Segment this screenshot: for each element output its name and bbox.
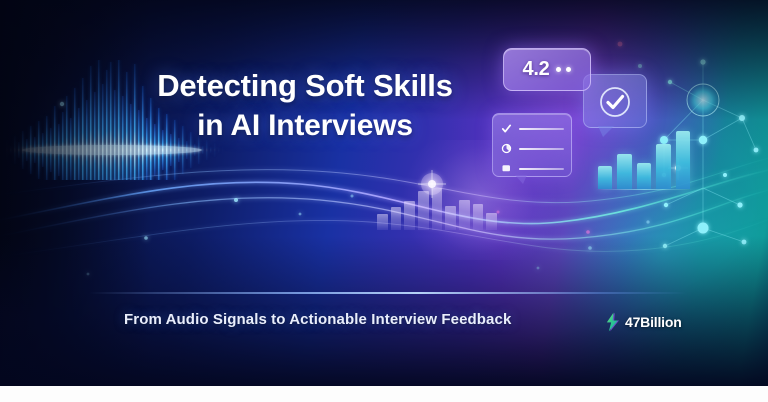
checklist-row xyxy=(501,163,564,174)
title-line-2: in AI Interviews xyxy=(120,106,490,146)
checklist-row xyxy=(501,143,564,154)
brand-name: 47Billion xyxy=(625,314,682,330)
checkmark-icon xyxy=(501,123,512,134)
checklist-row xyxy=(501,123,564,134)
subtitle: From Audio Signals to Actionable Intervi… xyxy=(124,311,511,328)
title-line-1: Detecting Soft Skills xyxy=(120,66,490,106)
rating-dots xyxy=(556,67,571,72)
rating-card: 4.2 xyxy=(503,48,591,91)
brand-logo: 47Billion xyxy=(604,312,682,332)
verified-bubble xyxy=(583,74,647,128)
bar-4 xyxy=(656,144,670,189)
check-circle-icon xyxy=(597,84,633,120)
analytics-bar-chart xyxy=(598,131,690,189)
center-bar-chart xyxy=(377,188,497,230)
checklist-card xyxy=(492,113,572,177)
lightning-bolt-icon xyxy=(604,312,621,332)
page-title: Detecting Soft Skills in AI Interviews xyxy=(120,66,490,146)
bottom-strip xyxy=(0,386,768,402)
bar-2 xyxy=(617,154,631,189)
rating-value: 4.2 xyxy=(523,58,550,81)
pie-chart-icon xyxy=(501,143,512,154)
bar-5 xyxy=(676,131,690,189)
divider xyxy=(88,292,688,294)
square-icon xyxy=(501,163,512,174)
banner: 4.2 Detecting Soft Skills in AI Intervie… xyxy=(0,0,768,402)
bar-3 xyxy=(637,163,651,189)
bar-1 xyxy=(598,166,612,189)
